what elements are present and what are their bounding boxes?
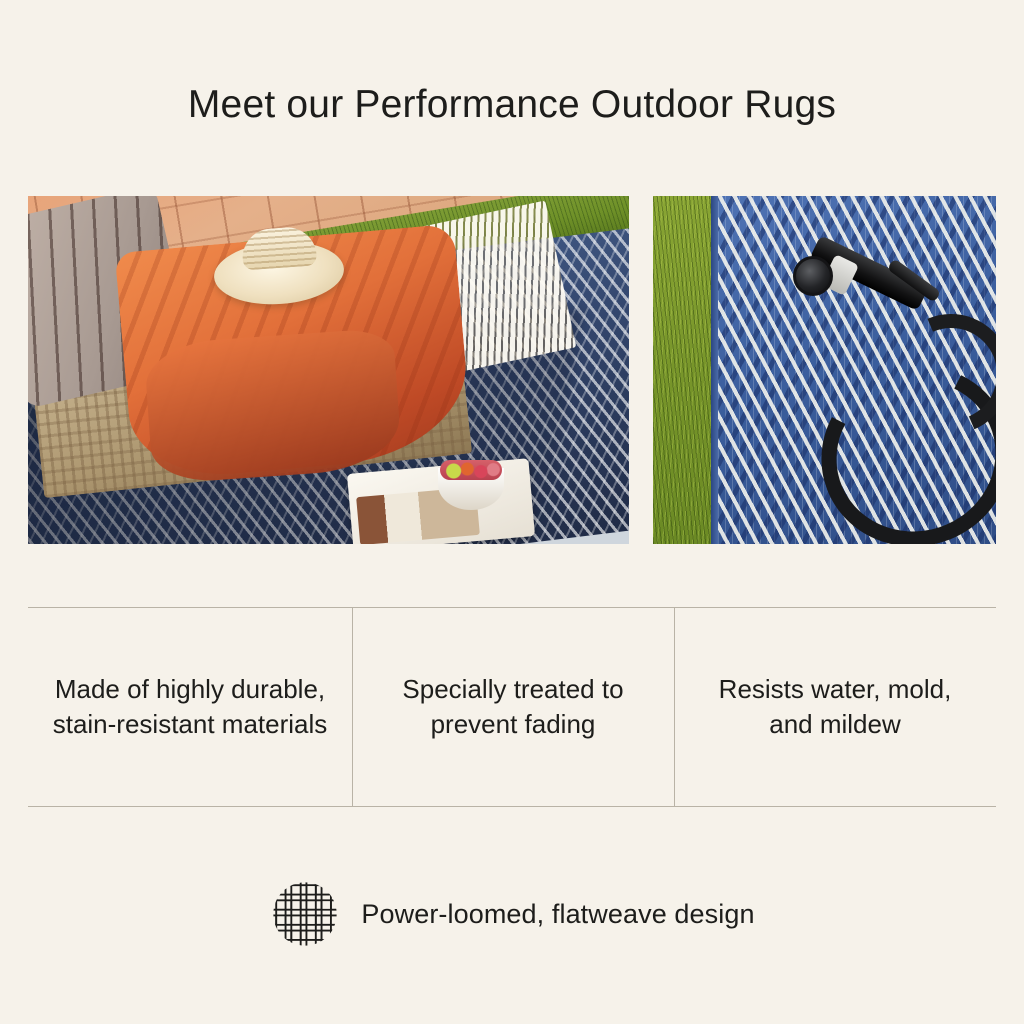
rug-binding-edge (711, 196, 718, 544)
spray-nozzle-head (793, 256, 833, 296)
feature-durability: Made of highly durable, stain-resistant … (28, 607, 352, 807)
footer-text: Power-loomed, flatweave design (361, 899, 754, 930)
feature-water-resist: Resists water, mold, and mildew (674, 607, 996, 807)
gallery (28, 196, 996, 544)
page-title: Meet our Performance Outdoor Rugs (0, 82, 1024, 129)
grass-edge (653, 196, 711, 544)
rug-closeup-hose-photo (653, 196, 996, 544)
feature-fade-resist: Specially treated to prevent fading (352, 607, 674, 807)
poolside-lounger-photo (28, 196, 629, 544)
feature-row: Made of highly durable, stain-resistant … (28, 607, 996, 807)
weave-pattern-icon (269, 878, 341, 950)
fruit (440, 460, 502, 480)
footer-badge: Power-loomed, flatweave design (0, 878, 1024, 950)
